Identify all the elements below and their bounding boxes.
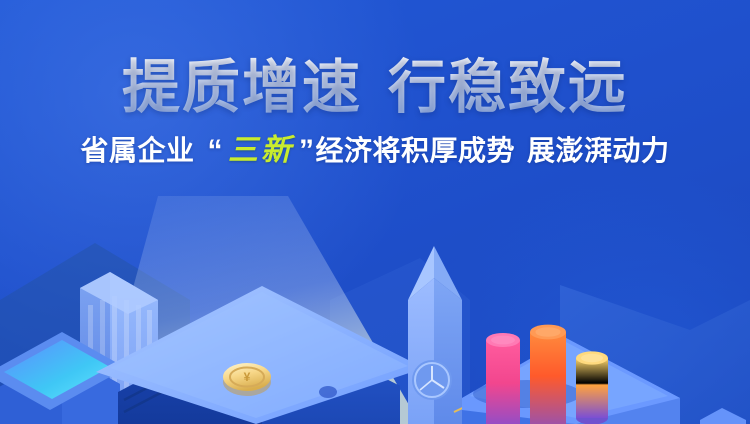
page-subtitle: 省属企业“三新”经济将积厚成势展澎湃动力	[0, 119, 750, 169]
subtitle-prefix: 省属企业	[80, 135, 194, 166]
headline-part2: 行稳致远	[388, 55, 628, 120]
bar-yellow	[576, 351, 608, 424]
promo-banner: ¥	[0, 0, 750, 424]
coin-symbol: ¥	[244, 370, 251, 384]
quote-open: “	[206, 134, 224, 167]
subtitle-suffix: 展澎湃动力	[527, 135, 670, 166]
subtitle-middle: 经济将积厚成势	[315, 135, 515, 166]
page-title: 提质增速行稳致远	[0, 0, 750, 119]
gold-coin: ¥	[223, 363, 271, 396]
headline-part1: 提质增速	[122, 55, 362, 120]
platform-dot	[319, 386, 337, 398]
quote-close: ”	[298, 134, 316, 167]
headline-block: 提质增速行稳致远 省属企业“三新”经济将积厚成势展澎湃动力	[0, 0, 750, 169]
clock-face	[412, 360, 452, 400]
bar-pink	[486, 333, 520, 424]
bar-orange	[530, 325, 566, 424]
subtitle-highlight: 三新	[224, 134, 298, 167]
